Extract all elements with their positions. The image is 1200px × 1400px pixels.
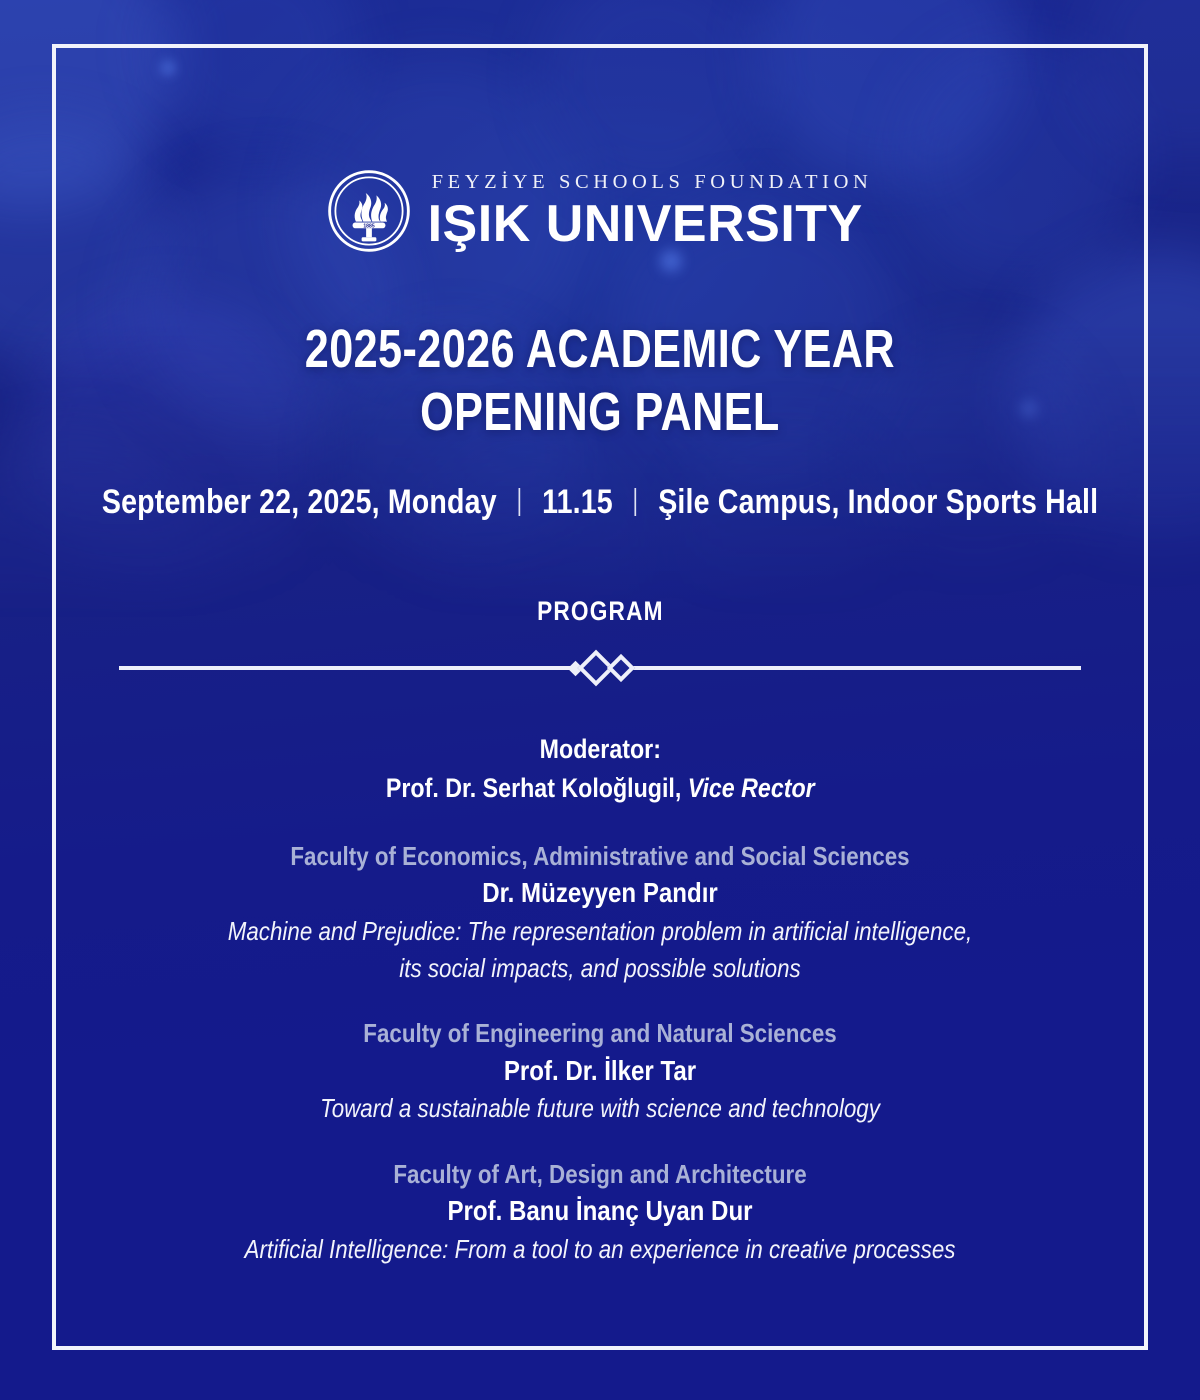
faculty-name: Faculty of Art, Design and Architecture	[170, 1157, 1030, 1192]
moderator-person: Prof. Dr. Serhat Koloğlugil,	[386, 773, 681, 803]
moderator-name: Prof. Dr. Serhat Koloğlugil, Vice Rector	[386, 769, 815, 807]
talk-title-line: Machine and Prejudice: The representatio…	[170, 913, 1030, 950]
title-line-2: OPENING PANEL	[305, 381, 895, 444]
moderator-role: Vice Rector	[687, 773, 814, 803]
university-name: IŞIK UNIVERSITY	[428, 198, 873, 250]
talk-title-line: its social impacts, and possible solutio…	[170, 950, 1030, 987]
moderator-block: Moderator: Prof. Dr. Serhat Koloğlugil, …	[351, 730, 850, 807]
event-venue: Şile Campus, Indoor Sports Hall	[658, 485, 1098, 519]
program-heading: PROGRAM	[537, 596, 664, 627]
foundation-name: FEYZİYE SCHOOLS FOUNDATION	[428, 172, 873, 193]
speaker-block: Faculty of Economics, Administrative and…	[100, 839, 1100, 987]
event-date: September 22, 2025, Monday	[102, 485, 497, 519]
talk-title-line: Toward a sustainable future with science…	[170, 1090, 1030, 1127]
brand-lockup: 1885 FEYZİYE SCHOOLS FOUNDATION IŞIK UNI…	[328, 170, 873, 252]
speaker-name: Prof. Banu İnanç Uyan Dur	[170, 1192, 1030, 1231]
speaker-block: Faculty of Art, Design and Architecture …	[100, 1157, 1100, 1268]
page-title: 2025-2026 ACADEMIC YEAR OPENING PANEL	[305, 318, 895, 443]
event-poster: 1885 FEYZİYE SCHOOLS FOUNDATION IŞIK UNI…	[0, 0, 1200, 1400]
divider-ornament	[564, 655, 637, 681]
diamond-medium-icon	[606, 654, 634, 682]
separator	[519, 488, 521, 516]
poster-content: 1885 FEYZİYE SCHOOLS FOUNDATION IŞIK UNI…	[0, 0, 1200, 1400]
event-details: September 22, 2025, Monday 11.15 Şile Ca…	[102, 485, 1098, 519]
faculty-name: Faculty of Engineering and Natural Scien…	[170, 1016, 1030, 1051]
isik-university-logo-icon: 1885	[328, 170, 410, 252]
diamond-divider-icon	[119, 651, 1081, 685]
event-time: 11.15	[542, 485, 613, 519]
faculty-name: Faculty of Economics, Administrative and…	[170, 839, 1030, 874]
speaker-name: Prof. Dr. İlker Tar	[170, 1052, 1030, 1091]
title-line-1: 2025-2026 ACADEMIC YEAR	[305, 318, 895, 381]
moderator-label: Moderator:	[386, 730, 815, 768]
brand-wordmark: FEYZİYE SCHOOLS FOUNDATION IŞIK UNIVERSI…	[428, 172, 873, 250]
talk-title-line: Artificial Intelligence: From a tool to …	[170, 1231, 1030, 1268]
speaker-block: Faculty of Engineering and Natural Scien…	[100, 1016, 1100, 1127]
separator	[635, 488, 637, 516]
speaker-list: Faculty of Economics, Administrative and…	[100, 839, 1100, 1268]
speaker-name: Dr. Müzeyyen Pandır	[170, 874, 1030, 913]
